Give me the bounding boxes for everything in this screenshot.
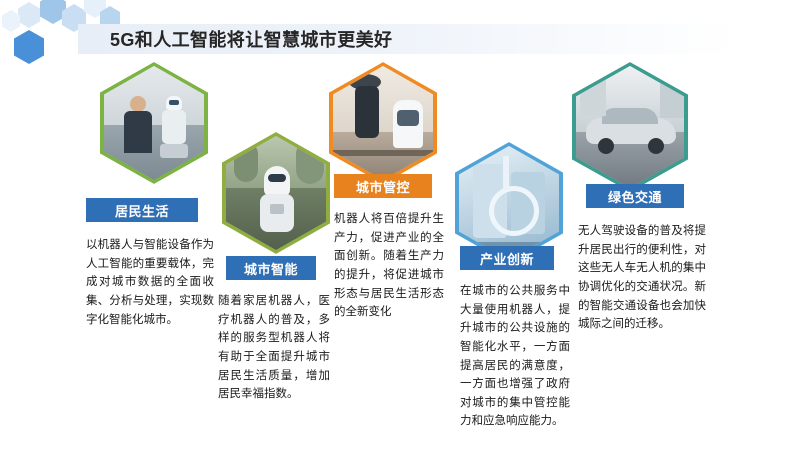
text-city-intelligence: 随着家居机器人，医疗机器人的普及，多样的服务型机器人将有助于全面提升城市居民生活… [218, 292, 330, 404]
chip-label: 城市管控 [356, 177, 410, 196]
photo-autonomous-car [572, 62, 688, 192]
decoration-hex-6 [2, 10, 20, 32]
chip-label: 绿色交通 [608, 187, 662, 206]
text-city-governance: 机器人将百倍提升生产力，促进产业的全面创新。随着生产力的提升，将促进城市形态与居… [334, 210, 444, 322]
chip-label: 产业创新 [480, 249, 534, 268]
chip-city-governance: 城市管控 [334, 174, 432, 198]
text-green-transport: 无人驾驶设备的普及将提升居民出行的便利性，对这些无人车无人机的集中协调优化的交通… [578, 222, 706, 334]
photo-service-robot-lobby [329, 62, 437, 184]
photo-man-with-robot [100, 62, 208, 184]
decoration-hex-1 [18, 2, 40, 28]
text-industry-innovation: 在城市的公共服务中大量使用机器人，提升城市的公共设施的智能化水平，一方面提高居民… [460, 282, 570, 431]
chip-green-transport: 绿色交通 [586, 184, 684, 208]
chip-city-intelligence: 城市智能 [226, 256, 316, 280]
chip-industry-innovation: 产业创新 [460, 246, 554, 270]
chip-resident-life: 居民生活 [86, 198, 198, 222]
photo-patrol-robot [222, 132, 330, 254]
page-title: 5G和人工智能将让智慧城市更美好 [110, 26, 392, 52]
chip-label: 居民生活 [115, 201, 169, 220]
chip-label: 城市智能 [244, 259, 298, 278]
text-resident-life: 以机器人与智能设备作为人工智能的重要载体，完成对城市数据的全面收集、分析与处理，… [86, 236, 214, 329]
